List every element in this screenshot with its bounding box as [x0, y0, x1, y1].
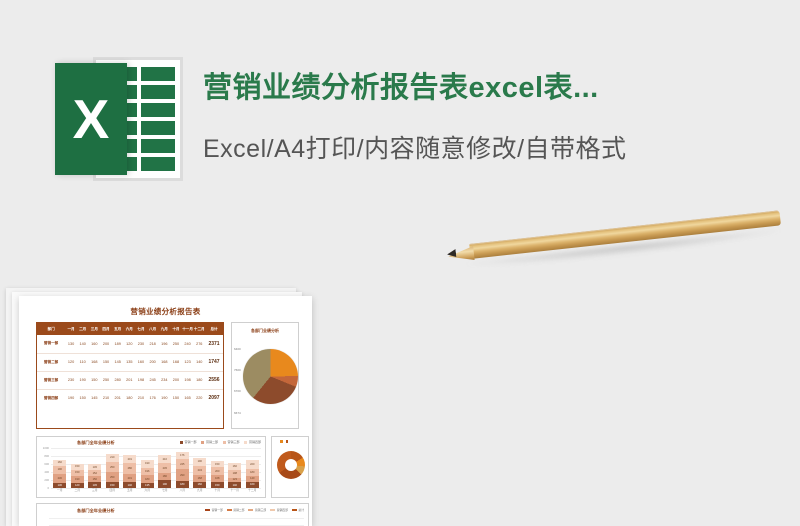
cell: 245 [147, 371, 159, 389]
cell: 168 [158, 353, 170, 371]
cell: 135 [123, 353, 135, 371]
legend-label: 营销四部 [277, 508, 288, 512]
cell: 145 [112, 353, 124, 371]
col-nov: 十一月 [182, 323, 194, 335]
bar-chart-plot: 160190230130 150150190120 145152150145 2… [51, 448, 261, 488]
cell: 220 [193, 389, 205, 407]
col-mar: 三月 [89, 323, 101, 335]
cell: 200 [100, 335, 112, 353]
sales-table: 部门 一月 二月 三月 四月 五月 六月 七月 八月 九月 十月 十一月 十二月… [37, 323, 223, 407]
col-feb: 二月 [77, 323, 89, 335]
bar-chart-bars: 160190230130 150150190120 145152150145 2… [51, 448, 261, 488]
x-tick: 十二月 [246, 488, 259, 496]
cell: 140 [77, 335, 89, 353]
y-tick: 400 [44, 470, 49, 474]
table-row[interactable]: 营销三部 230 190 150 250 280 201 198 245 234… [37, 371, 223, 389]
pie-slices [243, 349, 298, 404]
pie-axis-label: 6700 [234, 389, 241, 393]
legend-label: 营销一部 [184, 440, 196, 444]
x-tick: 一月 [53, 488, 66, 496]
row-dept: 营销四部 [37, 389, 65, 407]
header-text-block: 营销业绩分析报告表excel表... Excel/A4打印/内容随意修改/自带格… [203, 66, 793, 172]
col-sep: 九月 [158, 323, 170, 335]
col-total: 总计 [205, 323, 223, 335]
cell: 150 [170, 389, 182, 407]
cell: 190 [77, 371, 89, 389]
cell: 150 [89, 371, 101, 389]
cell: 201 [112, 389, 124, 407]
line-chart-gridlines [49, 518, 304, 526]
cell: 230 [65, 371, 77, 389]
table-row[interactable]: 营销二部 120 110 168 150 145 135 160 200 168… [37, 353, 223, 371]
bar-group: 210250250150 [106, 448, 119, 488]
row-dept: 营销一部 [37, 335, 65, 353]
legend-label: 营销三部 [227, 440, 239, 444]
donut-chart-legend [280, 440, 288, 443]
col-may: 五月 [112, 323, 124, 335]
cell: 250 [100, 371, 112, 389]
bar-group: 160190230130 [53, 448, 66, 488]
sheet-title: 营销业绩分析报告表 [19, 306, 312, 317]
bar-group: 220180140160 [246, 448, 259, 488]
cell: 130 [65, 335, 77, 353]
pie-axis-label: 6400 [234, 347, 241, 351]
bar-group: 150200168150 [211, 448, 224, 488]
cell: 140 [193, 353, 205, 371]
pie-axis-label: 7600 [234, 368, 241, 372]
pie-chart-graphic [243, 349, 298, 404]
cell: 168 [170, 353, 182, 371]
x-tick: 十一月 [228, 488, 241, 496]
col-oct: 十月 [170, 323, 182, 335]
row-dept: 营销三部 [37, 371, 65, 389]
col-aug: 八月 [147, 323, 159, 335]
bar-group: 190196180135 [141, 448, 154, 488]
y-tick: 600 [44, 462, 49, 466]
row-total: 1747 [205, 353, 223, 371]
cell: 120 [123, 335, 135, 353]
pie-chart-title: 各部门业绩分析 [232, 328, 298, 334]
legend-item: 营销三部 [248, 508, 266, 512]
cell: 198 [135, 371, 147, 389]
y-tick: 200 [44, 478, 49, 482]
bar-group: 176245290180 [176, 448, 189, 488]
col-apr: 四月 [100, 323, 112, 335]
cell: 160 [89, 335, 101, 353]
x-tick: 三月 [88, 488, 101, 496]
cell: 190 [65, 389, 77, 407]
bar-chart-legend: 营销一部 营销二部 营销三部 营销四部 [180, 440, 261, 444]
sales-table-container[interactable]: 部门 一月 二月 三月 四月 五月 六月 七月 八月 九月 十月 十一月 十二月… [36, 322, 224, 429]
page-title: 营销业绩分析报告表excel表... [203, 66, 793, 110]
bar-group: 160198123140 [228, 448, 241, 488]
cell: 240 [182, 335, 194, 353]
table-header-row: 部门 一月 二月 三月 四月 五月 六月 七月 八月 九月 十月 十一月 十二月… [37, 323, 223, 335]
x-tick: 四月 [106, 488, 119, 496]
cell: 250 [170, 335, 182, 353]
page-subtitle: Excel/A4打印/内容随意修改/自带格式 [203, 126, 793, 172]
table-row[interactable]: 营销四部 190 150 145 210 201 180 210 176 190… [37, 389, 223, 407]
x-tick: 八月 [176, 488, 189, 496]
row-total: 2371 [205, 335, 223, 353]
col-jun: 六月 [123, 323, 135, 335]
col-dec: 十二月 [193, 323, 205, 335]
line-chart-title: 各部门全年业绩分析 [77, 508, 115, 514]
cell: 210 [100, 389, 112, 407]
cell: 123 [182, 353, 194, 371]
legend-item: 营销一部 [180, 440, 197, 444]
bar-group: 190234168160 [193, 448, 206, 488]
row-total: 2097 [205, 389, 223, 407]
cell: 120 [65, 353, 77, 371]
row-total: 2556 [205, 371, 223, 389]
bar-group: 150150190120 [71, 448, 84, 488]
cell: 145 [89, 389, 101, 407]
legend-label: 营销四部 [249, 440, 261, 444]
cell: 200 [170, 371, 182, 389]
x-tick: 六月 [141, 488, 154, 496]
cell: 160 [135, 353, 147, 371]
cell: 210 [135, 389, 147, 407]
cell: 176 [147, 389, 159, 407]
spreadsheet-preview[interactable]: 营销业绩分析报告表 部门 一月 二月 三月 四月 五月 [19, 296, 312, 526]
x-tick: 二月 [71, 488, 84, 496]
col-jul: 七月 [135, 323, 147, 335]
y-tick: 1000 [43, 446, 49, 450]
legend-label: 营销二部 [206, 440, 218, 444]
legend-label: 营销三部 [255, 508, 266, 512]
row-dept: 营销二部 [37, 353, 65, 371]
y-tick: 0 [47, 486, 49, 490]
legend-item: 营销三部 [223, 440, 240, 444]
legend-item: 总计 [292, 508, 304, 512]
legend-item: 营销二部 [201, 440, 218, 444]
line-chart-legend: 营销一部 营销二部 营销三部 营销四部 总计 [205, 508, 304, 512]
legend-item: 营销一部 [205, 508, 223, 512]
cell: 200 [147, 353, 159, 371]
screenshot-root: X 营销业绩分析报告表excel表... Excel/A4打印/内容随意修改/自… [0, 0, 800, 526]
legend-label: 总计 [298, 508, 304, 512]
donut-chart-panel[interactable] [271, 436, 309, 498]
cell: 218 [147, 335, 159, 353]
cell: 180 [123, 389, 135, 407]
cell: 198 [182, 371, 194, 389]
x-tick: 五月 [123, 488, 136, 496]
y-tick: 800 [44, 454, 49, 458]
cell: 189 [112, 335, 124, 353]
cell: 196 [158, 335, 170, 353]
legend-item: 营销四部 [244, 440, 261, 444]
legend-label: 营销一部 [212, 508, 223, 512]
donut-chart-graphic [277, 451, 305, 479]
cell: 110 [77, 353, 89, 371]
bar-chart-panel[interactable]: 各部门全年业绩分析 营销一部 营销二部 营销三部 营销四部 1000 800 6… [36, 436, 266, 498]
legend-item: 营销二部 [227, 508, 245, 512]
logo-letter-x: X [55, 63, 127, 175]
x-tick: 十月 [211, 488, 224, 496]
legend-label: 营销二部 [233, 508, 244, 512]
line-chart-panel[interactable]: 各部门全年业绩分析 营销一部 营销二部 营销三部 营销四部 总计 [36, 503, 309, 526]
x-tick: 九月 [193, 488, 206, 496]
cell: 201 [123, 371, 135, 389]
cell: 230 [135, 335, 147, 353]
cell: 280 [112, 371, 124, 389]
bar-group: 201280201140 [123, 448, 136, 488]
pie-chart-panel[interactable]: 各部门业绩分析 6400 7600 6700 6674 [231, 322, 299, 429]
excel-logo-icon: X [55, 57, 183, 181]
bar-group: 210245180190 [158, 448, 171, 488]
col-dept: 部门 [37, 323, 65, 335]
table-row[interactable]: 营销一部 130 140 160 200 189 120 230 218 196… [37, 335, 223, 353]
pencil-illustration [448, 236, 784, 280]
col-jan: 一月 [65, 323, 77, 335]
x-tick: 七月 [158, 488, 171, 496]
cell: 150 [77, 389, 89, 407]
bar-chart-title: 各部门全年业绩分析 [77, 440, 115, 446]
cell: 168 [89, 353, 101, 371]
cell: 234 [158, 371, 170, 389]
bar-chart-x-axis: 一月 二月 三月 四月 五月 六月 七月 八月 九月 十月 十一月 十二月 [51, 488, 261, 496]
cell: 190 [158, 389, 170, 407]
header-banner: X 营销业绩分析报告表excel表... Excel/A4打印/内容随意修改/自… [0, 0, 800, 212]
bar-group: 145152150145 [88, 448, 101, 488]
cell: 276 [193, 335, 205, 353]
cell: 180 [193, 371, 205, 389]
pie-axis-label: 6674 [234, 411, 241, 415]
cell: 165 [182, 389, 194, 407]
legend-item: 营销四部 [270, 508, 288, 512]
cell: 150 [100, 353, 112, 371]
bar-chart-y-axis: 1000 800 600 400 200 0 [37, 448, 50, 488]
